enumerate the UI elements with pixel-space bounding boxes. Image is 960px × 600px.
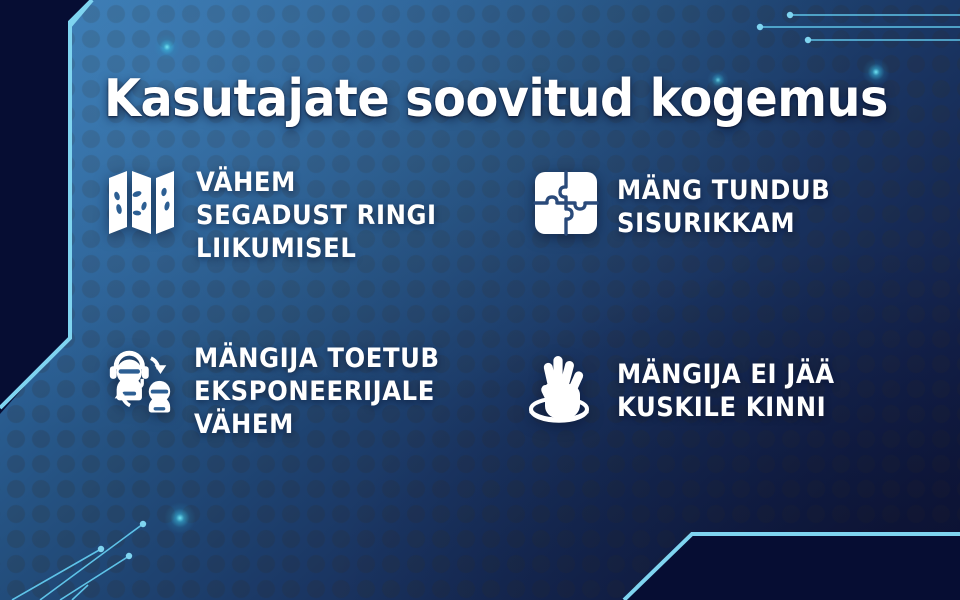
feature-label-line: EKSPONEERIJALE bbox=[194, 375, 440, 408]
hand-reaching-out-of-hole-icon bbox=[519, 352, 599, 426]
slide-canvas: Kasutajate soovitud kogemus bbox=[0, 0, 960, 600]
feature-list: VÄHEM SEGADUST RINGI LIIKUMISEL bbox=[0, 0, 960, 600]
feature-label-line: SEGADUST RINGI bbox=[196, 199, 437, 232]
feature-item-game-feels-richer: MÄNG TUNDUB SISURIKKAM bbox=[533, 168, 933, 240]
people-handoff-headset-icon bbox=[104, 338, 176, 414]
feature-label: MÄNGIJA TOETUB EKSPONEERIJALE VÄHEM bbox=[194, 338, 440, 442]
feature-label-line: LIIKUMISEL bbox=[196, 232, 437, 265]
feature-item-less-reliance-on-host: MÄNGIJA TOETUB EKSPONEERIJALE VÄHEM bbox=[104, 338, 524, 442]
feature-item-player-does-not-get-stuck: MÄNGIJA EI JÄÄ KUSKILE KINNI bbox=[519, 352, 939, 426]
feature-label: VÄHEM SEGADUST RINGI LIIKUMISEL bbox=[196, 162, 437, 266]
feature-label-line: KUSKILE KINNI bbox=[617, 391, 835, 424]
feature-item-less-confusion-navigating: VÄHEM SEGADUST RINGI LIIKUMISEL bbox=[106, 162, 516, 266]
feature-label-line: MÄNGIJA EI JÄÄ bbox=[617, 358, 835, 391]
feature-label-line: SISURIKKAM bbox=[617, 207, 830, 240]
feature-label-line: MÄNG TUNDUB bbox=[617, 174, 830, 207]
feature-label-line: VÄHEM bbox=[194, 408, 440, 441]
folded-map-icon bbox=[106, 162, 178, 238]
puzzle-pieces-icon bbox=[533, 168, 599, 238]
feature-label: MÄNG TUNDUB SISURIKKAM bbox=[617, 168, 830, 240]
feature-label-line: MÄNGIJA TOETUB bbox=[194, 342, 440, 375]
feature-label: MÄNGIJA EI JÄÄ KUSKILE KINNI bbox=[617, 352, 835, 424]
feature-label-line: VÄHEM bbox=[196, 166, 437, 199]
